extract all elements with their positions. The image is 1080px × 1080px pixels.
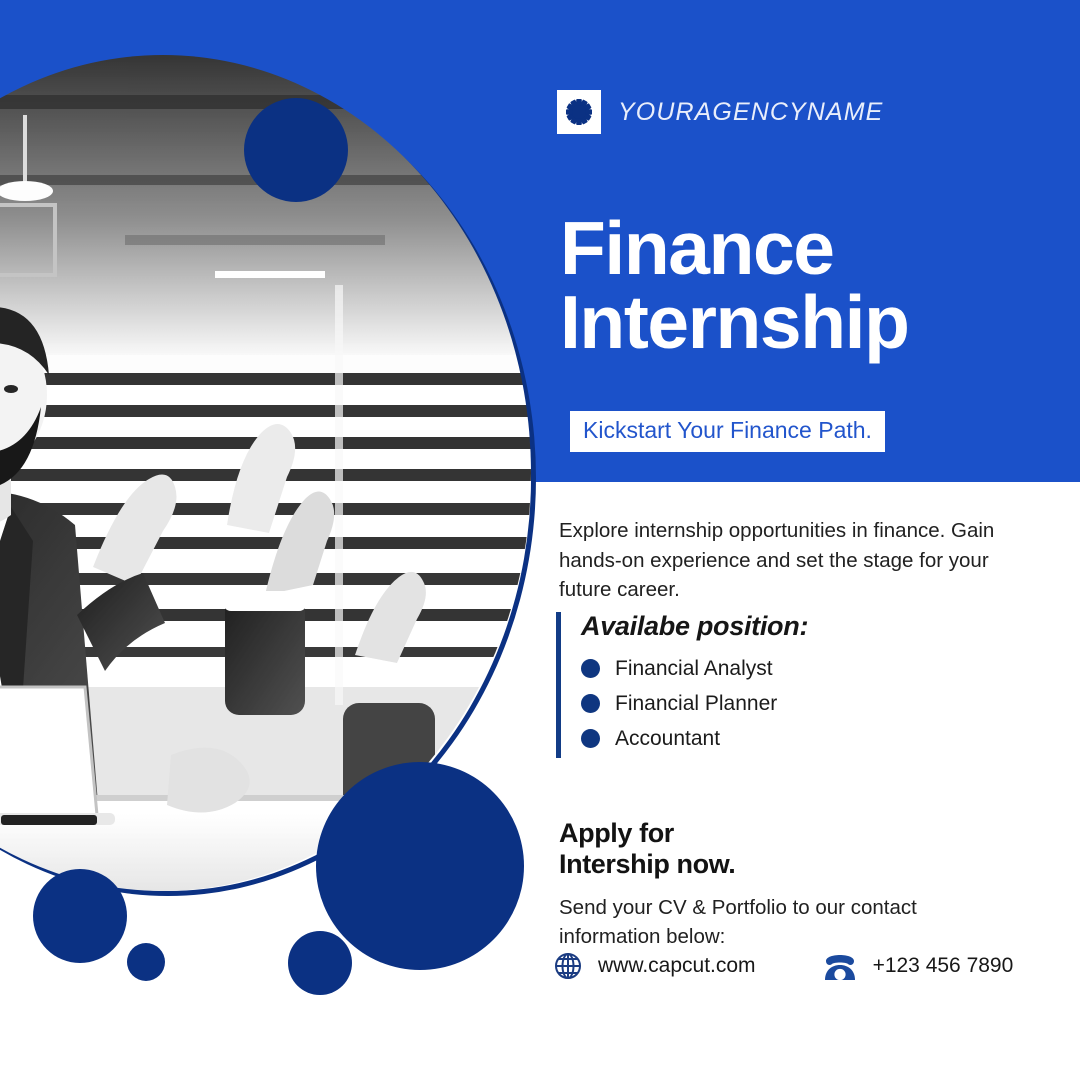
position-label: Financial Analyst xyxy=(615,657,773,681)
positions-title: Availabe position: xyxy=(581,611,976,642)
position-label: Financial Planner xyxy=(615,692,777,716)
contact-website[interactable]: www.capcut.com xyxy=(552,950,756,982)
apply-subtitle: Send your CV & Portfolio to our contact … xyxy=(559,893,999,951)
list-item: Financial Planner xyxy=(581,686,976,721)
contact-phone[interactable]: +123 456 7890 xyxy=(820,950,1014,982)
bullet-dot-icon xyxy=(581,694,600,713)
apply-section: Apply for Intership now. Send your CV & … xyxy=(559,818,999,951)
bullet-dot-icon xyxy=(581,729,600,748)
headline-line-2: Internship xyxy=(560,286,1070,360)
decor-circle-large xyxy=(316,762,524,970)
bullet-dot-icon xyxy=(581,659,600,678)
brand-row: YOURAGENCYNAME xyxy=(557,90,883,134)
decor-circle-small xyxy=(127,943,165,981)
poster-canvas: YOURAGENCYNAME Finance Internship Kickst… xyxy=(0,0,1080,1080)
tagline-badge: Kickstart Your Finance Path. xyxy=(570,411,885,452)
telephone-icon xyxy=(820,950,860,982)
phone-text: +123 456 7890 xyxy=(873,954,1014,978)
decor-circle-medium xyxy=(33,869,127,963)
decor-circle-top xyxy=(244,98,348,202)
positions-list: Financial Analyst Financial Planner Acco… xyxy=(556,651,976,756)
apply-title: Apply for Intership now. xyxy=(559,818,999,880)
list-item: Accountant xyxy=(581,721,976,756)
intro-paragraph: Explore internship opportunities in fina… xyxy=(559,516,1029,605)
asterisk-flower-icon xyxy=(557,90,601,134)
website-text: www.capcut.com xyxy=(598,954,756,978)
headline-line-1: Finance xyxy=(560,212,1070,286)
apply-title-line-1: Apply for xyxy=(559,818,674,848)
available-positions-section: Availabe position: Financial Analyst Fin… xyxy=(556,611,976,756)
position-label: Accountant xyxy=(615,727,720,751)
page-title: Finance Internship xyxy=(560,212,1070,359)
globe-icon xyxy=(552,950,584,982)
list-item: Financial Analyst xyxy=(581,651,976,686)
contact-row: www.capcut.com +123 456 7890 xyxy=(552,950,1013,982)
brand-name: YOURAGENCYNAME xyxy=(618,98,883,127)
apply-title-line-2: Intership now. xyxy=(559,849,735,879)
decor-circle-small-2 xyxy=(288,931,352,995)
